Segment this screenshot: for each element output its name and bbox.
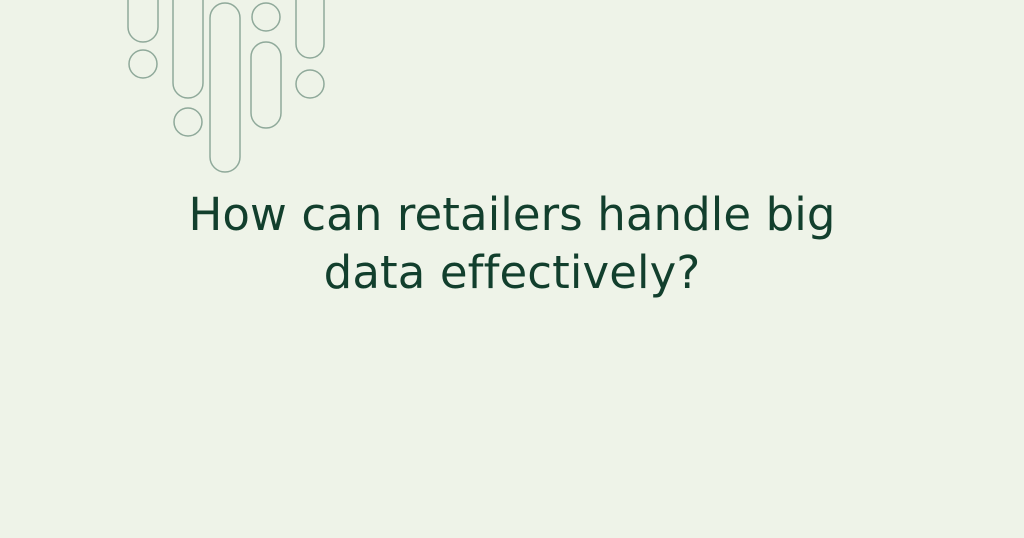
decor-bar-5 xyxy=(296,0,324,58)
headline-container: How can retailers handle big data effect… xyxy=(0,186,1024,302)
decor-bar-4 xyxy=(251,42,281,128)
decor-circle-4 xyxy=(296,70,324,98)
decor-bar-1 xyxy=(128,0,158,42)
page-title-line-1: How can retailers handle big xyxy=(0,186,1024,244)
decor-bar-3 xyxy=(210,3,240,172)
page-title: How can retailers handle big data effect… xyxy=(0,186,1024,302)
bar-dot-decoration xyxy=(0,0,380,200)
decor-bar-2 xyxy=(173,0,203,98)
decoration-svg xyxy=(0,0,380,200)
decor-circle-3 xyxy=(252,3,280,31)
page-title-line-2: data effectively? xyxy=(0,244,1024,302)
decor-circle-2 xyxy=(174,108,202,136)
decor-circle-1 xyxy=(129,50,157,78)
slide-canvas: How can retailers handle big data effect… xyxy=(0,0,1024,538)
